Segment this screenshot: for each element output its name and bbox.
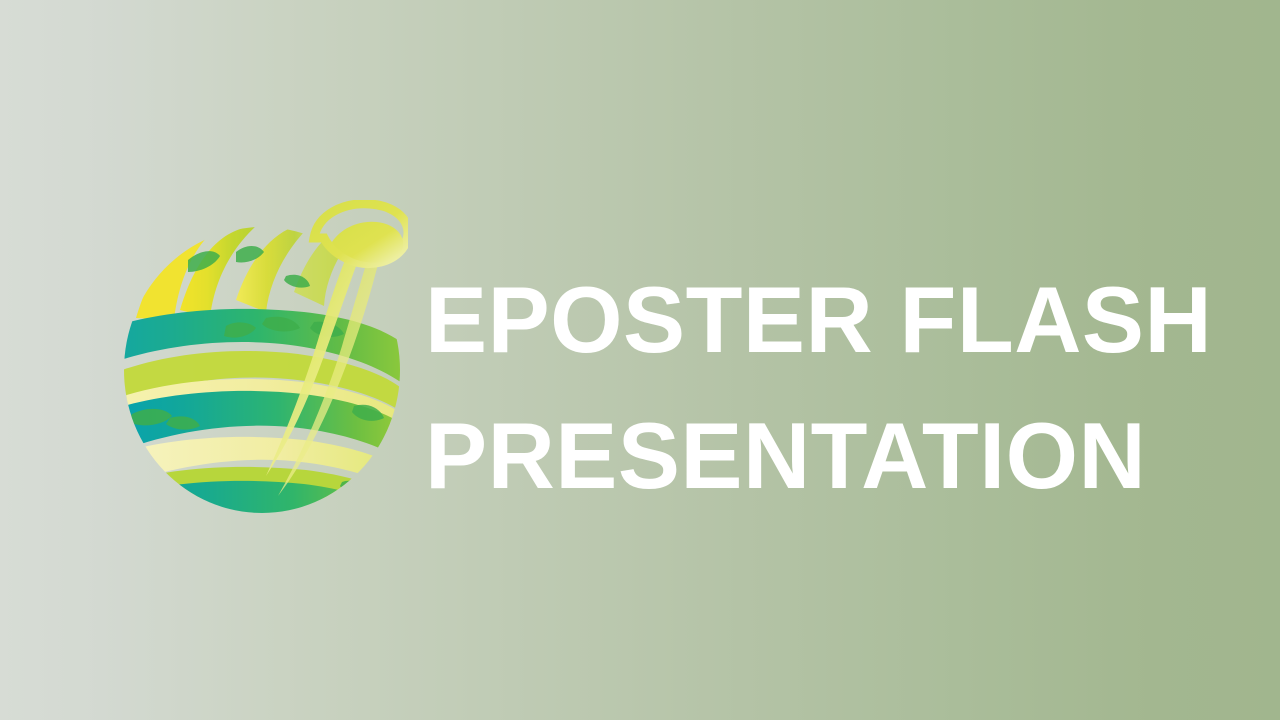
- slide-title: EPOSTER FLASH PRESENTATION: [425, 252, 1185, 524]
- title-line-1: EPOSTER FLASH: [425, 252, 1177, 388]
- slide-canvas: EPOSTER FLASH PRESENTATION: [0, 0, 1280, 720]
- globe-ribbon-leaf-logo: [118, 200, 408, 520]
- globe-bands: [118, 204, 408, 520]
- title-line-2: PRESENTATION: [425, 388, 1177, 524]
